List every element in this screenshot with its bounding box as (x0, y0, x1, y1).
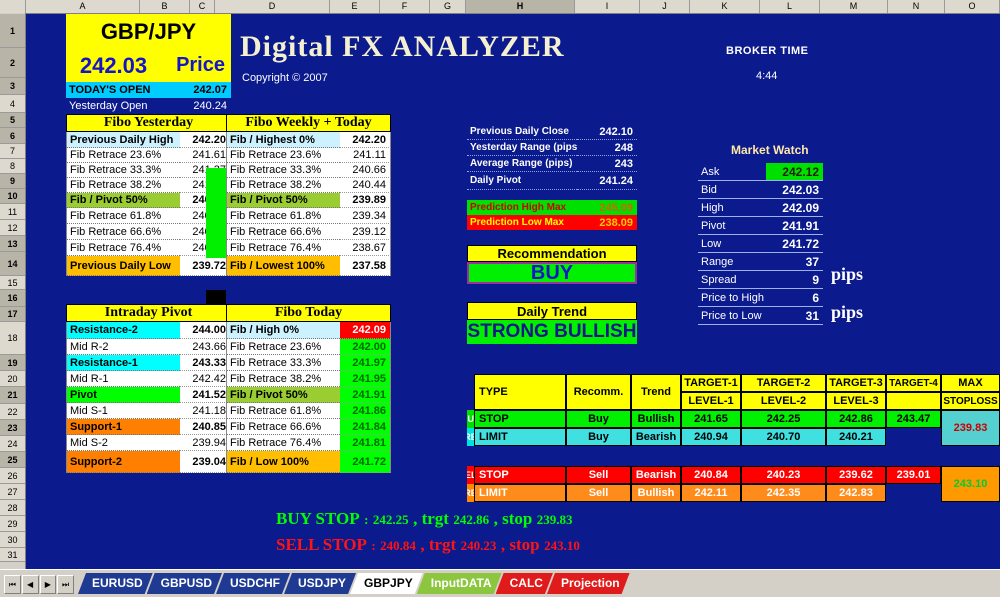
row-header-15[interactable]: 15 (0, 276, 25, 290)
intraday-pivot-row-value: 240.85 (180, 419, 231, 435)
buy-row-target2: 240.70 (741, 428, 826, 446)
sell-row-target1: 240.84 (681, 466, 741, 484)
fibo-today-row-label: Fib Retrace 23.6% (226, 339, 340, 355)
page-title: Digital FX ANALYZER (240, 30, 565, 64)
buy-stop-entry: 242.25 (373, 512, 409, 527)
daily-stat-label: Average Range (pips) (467, 156, 577, 172)
column-header-a[interactable]: A (26, 0, 140, 13)
fibo-yesterday-row-label: Fib Retrace 23.6% (66, 148, 180, 163)
fibo-weekly-title: Fibo Weekly + Today (226, 114, 391, 132)
fibo-today-row-value: 241.86 (340, 403, 391, 419)
sell-row-max: 243.10 (941, 466, 1000, 502)
spreadsheet-grid: GBP/JPY 242.03 Price TODAY'S OPEN 242.07… (26, 14, 1000, 569)
sell-stop-summary: SELL STOP : 240.84 , trgt 240.23 , stop … (276, 535, 580, 555)
row-header-28[interactable]: 28 (0, 500, 25, 516)
fibo-today-row-label: Fib / Low 100% (226, 451, 340, 473)
recommendation-value[interactable]: BUY (467, 262, 637, 284)
daily-stat-value: 242.10 (577, 124, 637, 140)
fibo-weekly-row-label: Fib Retrace 61.8% (226, 208, 340, 224)
fibo-today-row-value: 242.00 (340, 339, 391, 355)
buy-stop-title: BUY STOP (276, 509, 360, 528)
signal-header-recomm: Recomm. (566, 374, 631, 410)
yesterday-open-label: Yesterday Open (66, 98, 166, 114)
fibo-today-row-label: Fib Retrace 76.4% (226, 435, 340, 451)
prediction-low-row: Prediction Low Max (467, 215, 577, 230)
market-watch-label: Bid (698, 181, 766, 199)
fibo-yesterday-row-label: Fib Retrace 76.4% (66, 240, 180, 256)
signal-header-trend: Trend (631, 374, 681, 410)
sheet-nav-button-1[interactable]: ◀ (22, 575, 39, 594)
column-header-j[interactable]: J (640, 0, 690, 13)
fibo-yesterday-row-label: Previous Daily Low (66, 256, 180, 276)
fibo-yesterday-row-label: Fib Retrace 66.6% (66, 224, 180, 240)
column-header-m[interactable]: M (820, 0, 888, 13)
intraday-pivot-row-value: 242.42 (180, 371, 231, 387)
buy-row-recomm: Buy (566, 410, 631, 428)
buy-stop-colon: : (364, 512, 368, 527)
buy-row-target1: 240.94 (681, 428, 741, 446)
pips-label-price: pips (831, 302, 863, 323)
price-value-cell[interactable]: 242.03 (66, 49, 161, 82)
sell-row-target3: 239.62 (826, 466, 886, 484)
copyright-text: Copyright © 2007 (242, 72, 328, 84)
sell-area-label-1: SELL (467, 466, 474, 484)
market-watch-label: Low (698, 235, 766, 253)
column-header-d[interactable]: D (215, 0, 330, 13)
intraday-pivot-title: Intraday Pivot (66, 304, 231, 322)
todays-open-value: 242.07 (166, 82, 231, 98)
sheet-tab-inputdata[interactable]: InputDATA (417, 573, 502, 594)
sell-stop-colon: : (371, 538, 375, 553)
row-header-6[interactable]: 6 (0, 128, 25, 144)
fibo-weekly-row-label: Fib Retrace 33.3% (226, 163, 340, 178)
buy-row-type: STOP (474, 410, 566, 428)
buy-row-trend: Bearish (631, 428, 681, 446)
prediction-low-value: 238.09 (577, 215, 637, 230)
sheet-nav-button-2[interactable]: ▶ (40, 575, 57, 594)
fibo-yesterday-title: Fibo Yesterday (66, 114, 231, 132)
fibo-weekly-row-value: 238.67 (340, 240, 391, 256)
daily-stat-value: 243 (577, 156, 637, 172)
buy-stop-trgt-label: , trgt (413, 509, 449, 528)
row-header-26[interactable]: 26 (0, 468, 25, 484)
fibo-weekly-row-label: Fib / Lowest 100% (226, 256, 340, 276)
signal-header-empty-t4 (886, 392, 941, 410)
row-header-24[interactable]: 24 (0, 436, 25, 452)
market-watch-value: 31 (766, 307, 823, 325)
sell-row-trend: Bearish (631, 466, 681, 484)
intraday-pivot-row-label: Support-1 (66, 419, 180, 435)
sell-stop-stop-label: , stop (501, 535, 540, 554)
column-header-b[interactable]: B (140, 0, 190, 13)
fibo-today-row-value: 241.84 (340, 419, 391, 435)
row-header-30[interactable]: 30 (0, 532, 25, 548)
buy-row-type: LIMIT (474, 428, 566, 446)
row-header-14[interactable]: 14 (0, 252, 25, 276)
intraday-pivot-row-value: 241.18 (180, 403, 231, 419)
market-watch-title: Market Watch (731, 143, 809, 157)
sell-row-target2: 242.35 (741, 484, 826, 502)
row-header-8[interactable]: 8 (0, 159, 25, 174)
fibo-weekly-row-label: Fib Retrace 23.6% (226, 148, 340, 163)
market-watch-label: Spread (698, 271, 766, 289)
buy-row-target1: 241.65 (681, 410, 741, 428)
buy-stop-stop-label: , stop (494, 509, 533, 528)
market-watch-value: 242.03 (766, 181, 823, 199)
buy-area-label-1: BUY (467, 410, 474, 428)
sell-row-target4: 239.01 (886, 466, 941, 484)
column-header-e[interactable]: E (330, 0, 380, 13)
daily-trend-title: Daily Trend (467, 302, 637, 320)
fibo-weekly-row-value: 239.89 (340, 193, 391, 208)
sell-stop-stop: 243.10 (544, 538, 580, 553)
recommendation-title: Recommendation (467, 245, 637, 262)
row-header-5[interactable]: 5 (0, 113, 25, 128)
signal-header-level2: LEVEL-2 (741, 392, 826, 410)
row-header-29[interactable]: 29 (0, 516, 25, 532)
fibo-weekly-row-label: Fib / Highest 0% (226, 132, 340, 148)
sheet-tab-bar: ⏮◀▶⏭ EURUSDGBPUSDUSDCHFUSDJPYGBPJPYInput… (0, 569, 1000, 597)
market-watch-value: 242.12 (766, 163, 823, 181)
intraday-pivot-row-value: 243.66 (180, 339, 231, 355)
signal-header-max: MAX (941, 374, 1000, 392)
sheet-tab-usdjpy[interactable]: USDJPY (284, 573, 356, 594)
fibo-weekly-row-value: 240.44 (340, 178, 391, 193)
market-watch-value: 241.72 (766, 235, 823, 253)
intraday-pivot-row-label: Support-2 (66, 451, 180, 473)
sheet-nav-buttons[interactable]: ⏮◀▶⏭ (4, 575, 74, 592)
sheet-tab-usdchf[interactable]: USDCHF (216, 573, 290, 594)
buy-stop-stop: 239.83 (537, 512, 573, 527)
intraday-pivot-row-value: 241.52 (180, 387, 231, 403)
market-watch-label: Range (698, 253, 766, 271)
row-header-31[interactable]: 31 (0, 548, 25, 562)
sell-row-type: STOP (474, 466, 566, 484)
buy-row-trend: Bullish (631, 410, 681, 428)
market-watch-label: Pivot (698, 217, 766, 235)
sell-row-target3: 242.83 (826, 484, 886, 502)
sell-row-target1: 242.11 (681, 484, 741, 502)
fibo-today-row-value: 242.09 (340, 322, 391, 339)
fibo-today-title: Fibo Today (226, 304, 391, 322)
row-header-13[interactable]: 13 (0, 236, 25, 252)
buy-stop-trgt: 242.86 (453, 512, 489, 527)
column-header-h[interactable]: H (466, 0, 575, 13)
intraday-pivot-row-value: 244.00 (180, 322, 231, 339)
yesterday-open-value: 240.24 (166, 98, 231, 114)
todays-open-label: TODAY'S OPEN (66, 82, 166, 98)
intraday-pivot-row-value: 239.94 (180, 435, 231, 451)
currency-pair-cell[interactable]: GBP/JPY (66, 14, 231, 49)
market-watch-value: 9 (766, 271, 823, 289)
fibo-today-row-value: 241.97 (340, 355, 391, 371)
buy-row-target3: 242.86 (826, 410, 886, 428)
intraday-pivot-row-label: Mid S-2 (66, 435, 180, 451)
column-header-k[interactable]: K (690, 0, 760, 13)
intraday-pivot-row-label: Pivot (66, 387, 180, 403)
signal-header-level3: LEVEL-3 (826, 392, 886, 410)
sheet-tab-eurusd[interactable]: EURUSD (78, 573, 153, 594)
fibo-weekly-row-value: 239.34 (340, 208, 391, 224)
row-header-10[interactable]: 10 (0, 189, 25, 204)
sheet-tab-projection[interactable]: Projection (547, 573, 630, 594)
column-c-black-block (206, 290, 226, 304)
fibo-weekly-row-value: 241.11 (340, 148, 391, 163)
row-header-21[interactable]: 21 (0, 387, 25, 404)
row-header-19[interactable]: 19 (0, 355, 25, 371)
row-header-9[interactable]: 9 (0, 174, 25, 189)
sell-row-type: LIMIT (474, 484, 566, 502)
sell-row-recomm: Sell (566, 466, 631, 484)
broker-time-value: 4:44 (756, 70, 777, 82)
column-header-g[interactable]: G (430, 0, 466, 13)
fibo-yesterday-row-value: 239.72 (180, 256, 231, 276)
fibo-weekly-row-label: Fib Retrace 66.6% (226, 224, 340, 240)
daily-stat-value: 241.24 (577, 172, 637, 190)
market-watch-value: 37 (766, 253, 823, 271)
row-header-22[interactable]: 22 (0, 404, 25, 420)
intraday-pivot-row-label: Mid S-1 (66, 403, 180, 419)
row-header-2[interactable]: 2 (0, 48, 25, 78)
fibo-today-row-label: Fib Retrace 33.3% (226, 355, 340, 371)
intraday-pivot-row-value: 239.04 (180, 451, 231, 473)
prediction-high-row: Prediction High Max (467, 200, 577, 215)
buy-row-target3: 240.21 (826, 428, 886, 446)
column-header-l[interactable]: L (760, 0, 820, 13)
row-header-17[interactable]: 17 (0, 307, 25, 322)
signal-header-target1: TARGET-1 (681, 374, 741, 392)
broker-time-label: BROKER TIME (726, 45, 809, 57)
row-header-27[interactable]: 27 (0, 484, 25, 500)
fibo-yesterday-row-label: Fib / Pivot 50% (66, 193, 180, 208)
row-header-3[interactable]: 3 (0, 78, 25, 95)
sheet-tab-gbpjpy[interactable]: GBPJPY (350, 573, 423, 594)
market-watch-value: 241.91 (766, 217, 823, 235)
row-header-7[interactable]: 7 (0, 144, 25, 159)
signal-header-target3: TARGET-3 (826, 374, 886, 392)
buy-row-target2: 242.25 (741, 410, 826, 428)
fibo-today-row-label: Fib Retrace 61.8% (226, 403, 340, 419)
pips-label-spread: pips (831, 264, 863, 285)
row-header-11[interactable]: 11 (0, 204, 25, 220)
fibo-weekly-row-label: Fib Retrace 76.4% (226, 240, 340, 256)
intraday-pivot-row-label: Resistance-2 (66, 322, 180, 339)
sell-stop-title: SELL STOP (276, 535, 367, 554)
row-header-bar: 1234567891011121314151617181920212223242… (0, 13, 26, 569)
fibo-today-row-value: 241.72 (340, 451, 391, 473)
fibo-weekly-row-value: 242.20 (340, 132, 391, 148)
column-header-f[interactable]: F (380, 0, 430, 13)
select-all-corner[interactable] (0, 0, 26, 13)
row-header-20[interactable]: 20 (0, 371, 25, 387)
fibo-today-row-label: Fib / Pivot 50% (226, 387, 340, 403)
row-header-25[interactable]: 25 (0, 452, 25, 468)
column-header-n[interactable]: N (888, 0, 945, 13)
sell-row-trend: Bullish (631, 484, 681, 502)
fibo-weekly-row-value: 239.12 (340, 224, 391, 240)
sell-stop-trgt: 240.23 (461, 538, 497, 553)
row-header-1[interactable]: 1 (0, 14, 25, 48)
buy-row-recomm: Buy (566, 428, 631, 446)
sell-row-recomm: Sell (566, 484, 631, 502)
intraday-pivot-row-value: 243.33 (180, 355, 231, 371)
market-watch-label: High (698, 199, 766, 217)
fibo-yesterday-row-value: 241.61 (180, 148, 231, 163)
row-header-4[interactable]: 4 (0, 95, 25, 113)
intraday-pivot-row-label: Mid R-2 (66, 339, 180, 355)
signal-header-type: TYPE (474, 374, 566, 410)
sheet-nav-button-0[interactable]: ⏮ (4, 575, 21, 594)
column-header-i[interactable]: I (575, 0, 640, 13)
signal-header-level1: LEVEL-1 (681, 392, 741, 410)
sell-row-target2: 240.23 (741, 466, 826, 484)
fibo-weekly-row-label: Fib / Pivot 50% (226, 193, 340, 208)
fibo-weekly-row-value: 240.66 (340, 163, 391, 178)
daily-stat-label: Daily Pivot (467, 172, 577, 190)
market-watch-value: 242.09 (766, 199, 823, 217)
fibo-today-row-label: Fib Retrace 38.2% (226, 371, 340, 387)
fibo-yesterday-row-label: Fib Retrace 61.8% (66, 208, 180, 224)
daily-trend-value: STRONG BULLISH (467, 320, 637, 344)
row-header-18[interactable]: 18 (0, 322, 25, 355)
column-header-c[interactable]: C (190, 0, 215, 13)
sheet-nav-button-3[interactable]: ⏭ (57, 575, 74, 594)
column-c-green-block (206, 168, 226, 258)
market-watch-label: Price to High (698, 289, 766, 307)
sell-stop-trgt-label: , trgt (420, 535, 456, 554)
price-label-cell: Price (161, 49, 231, 82)
sell-area-label-2: AREA (467, 484, 474, 502)
daily-stat-label: Previous Daily Close (467, 124, 577, 140)
signal-header-stoploss: STOPLOSS (941, 392, 1000, 410)
fibo-today-row-label: Fib Retrace 66.6% (226, 419, 340, 435)
buy-stop-summary: BUY STOP : 242.25 , trgt 242.86 , stop 2… (276, 509, 573, 529)
intraday-pivot-row-label: Mid R-1 (66, 371, 180, 387)
prediction-high-value: 245.09 (577, 200, 637, 215)
buy-row-target4: 243.47 (886, 410, 941, 428)
column-header-o[interactable]: O (945, 0, 1000, 13)
signal-header-target2: TARGET-2 (741, 374, 826, 392)
signal-header-target4: TARGET-4 (886, 374, 941, 392)
fibo-today-row-value: 241.95 (340, 371, 391, 387)
market-watch-label: Ask (698, 163, 766, 181)
fibo-yesterday-row-label: Previous Daily High (66, 132, 180, 148)
sheet-tab-calc[interactable]: CALC (496, 573, 553, 594)
fibo-today-row-label: Fib / High 0% (226, 322, 340, 339)
sheet-tab-gbpusd[interactable]: GBPUSD (147, 573, 222, 594)
fibo-weekly-row-value: 237.58 (340, 256, 391, 276)
column-header-bar: ABCDEFGHIJKLMNO (0, 0, 1000, 14)
fibo-weekly-row-label: Fib Retrace 38.2% (226, 178, 340, 193)
row-header-16[interactable]: 16 (0, 290, 25, 307)
buy-row-max: 239.83 (941, 410, 1000, 446)
fibo-yesterday-row-value: 242.20 (180, 132, 231, 148)
sell-stop-entry: 240.84 (380, 538, 416, 553)
daily-stat-label: Yesterday Range (pips) (467, 140, 577, 156)
fibo-today-row-value: 241.91 (340, 387, 391, 403)
buy-area-label-2: AREA (467, 428, 474, 446)
row-header-23[interactable]: 23 (0, 420, 25, 436)
market-watch-value: 6 (766, 289, 823, 307)
fibo-yesterday-row-label: Fib Retrace 33.3% (66, 163, 180, 178)
daily-stat-value: 248 (577, 140, 637, 156)
fibo-today-row-value: 241.81 (340, 435, 391, 451)
market-watch-label: Price to Low (698, 307, 766, 325)
row-header-12[interactable]: 12 (0, 220, 25, 236)
fibo-yesterday-row-label: Fib Retrace 38.2% (66, 178, 180, 193)
intraday-pivot-row-label: Resistance-1 (66, 355, 180, 371)
